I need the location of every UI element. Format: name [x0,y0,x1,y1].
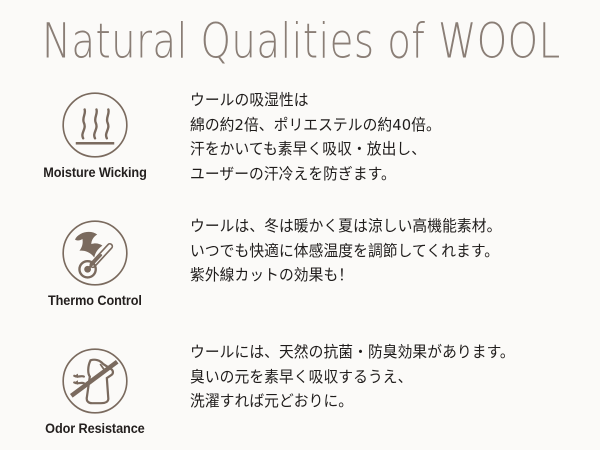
feature-label-moisture-wicking: Moisture Wicking [43,165,146,180]
feature-text-thermo-control: ウールは、冬は暖かく夏は涼しい高機能素材。 いつでも快適に体感温度を調節してくれ… [190,206,600,288]
feature-label-thermo-control: Thermo Control [48,293,142,308]
page-title: Natural Qualities of WOOL [42,14,558,69]
odor-resistance-icon [58,344,132,418]
feature-row-moisture-wicking: Moisture Wicking ウールの吸湿性は 綿の約2倍、ポリエステルの約… [0,84,600,206]
body-line: ウールの吸湿性は [190,88,588,113]
body-line: ユーザーの汗冷えを防ぎます。 [190,162,588,187]
body-line: いつでも快適に体感温度を調節してくれます。 [190,239,588,264]
feature-text-odor-resistance: ウールには、天然の抗菌・防臭効果があります。 臭いの元を素早く吸収するうえ、 洗… [190,330,600,414]
wool-qualities-infographic: Natural Qualities of WOOL Moisture Wicki… [0,0,600,450]
icon-column: Thermo Control [0,206,190,308]
moisture-wicking-icon [58,88,132,162]
body-line: 洗濯すれば元どおりに。 [190,389,588,414]
body-line: 臭いの元を素早く吸収するうえ、 [190,365,588,390]
body-line: ウールは、冬は暖かく夏は涼しい高機能素材。 [190,214,588,239]
feature-text-moisture-wicking: ウールの吸湿性は 綿の約2倍、ポリエステルの約40倍。 汗をかいても素早く吸収・… [190,84,600,186]
body-line: 紫外線カットの効果も！ [190,263,588,288]
body-line: 汗をかいても素早く吸収・放出し、 [190,137,588,162]
icon-column: Moisture Wicking [0,84,190,180]
feature-row-odor-resistance: Odor Resistance ウールには、天然の抗菌・防臭効果があります。 臭… [0,330,600,450]
thermo-control-icon [58,216,132,290]
feature-list: Moisture Wicking ウールの吸湿性は 綿の約2倍、ポリエステルの約… [0,84,600,450]
feature-row-thermo-control: Thermo Control ウールは、冬は暖かく夏は涼しい高機能素材。 いつで… [0,206,600,330]
body-line: 綿の約2倍、ポリエステルの約40倍。 [190,113,588,138]
body-line: ウールには、天然の抗菌・防臭効果があります。 [190,340,588,365]
icon-column: Odor Resistance [0,330,190,436]
feature-label-odor-resistance: Odor Resistance [45,421,144,436]
